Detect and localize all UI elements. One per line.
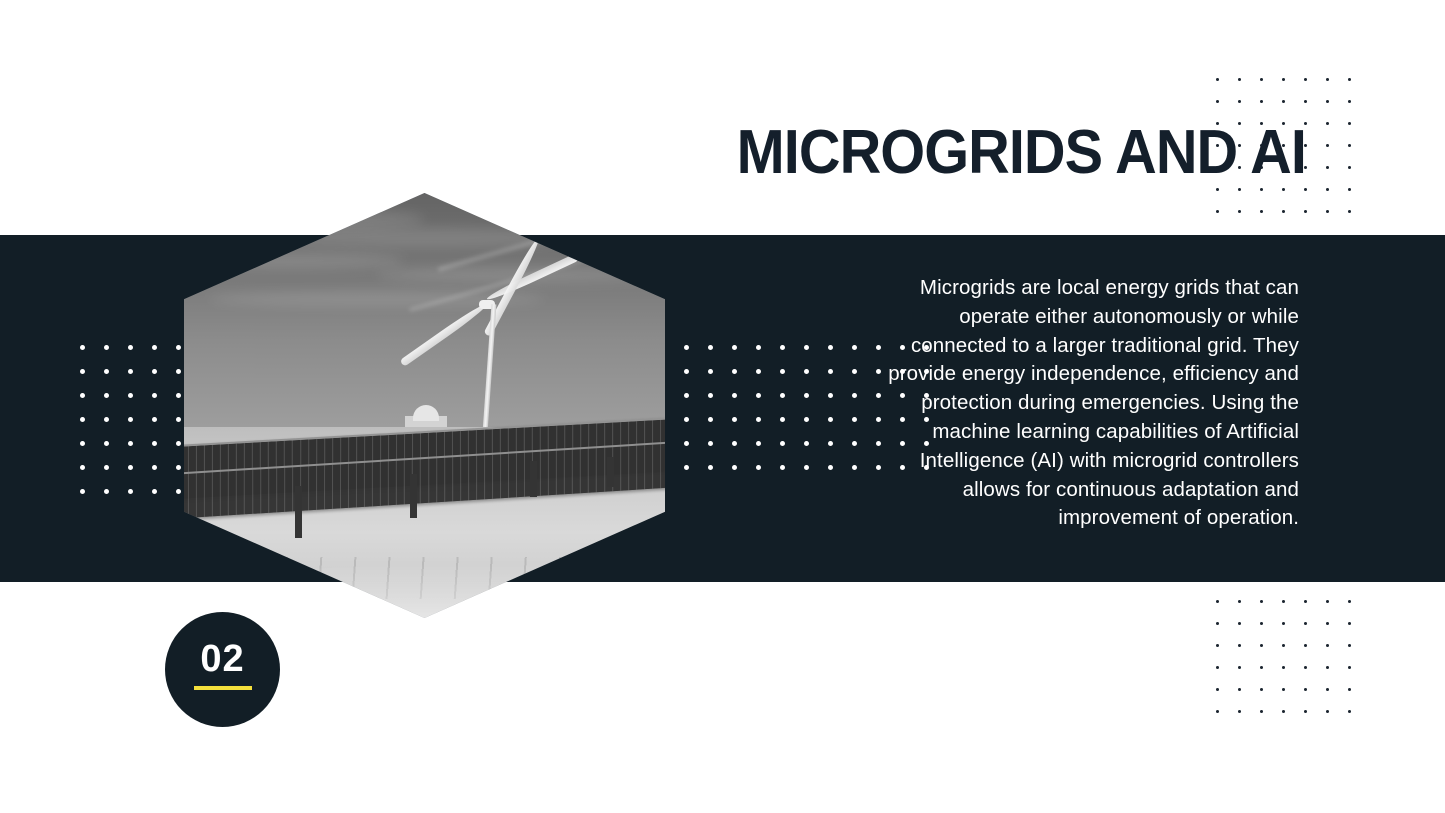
decorative-dot — [1238, 644, 1241, 647]
decorative-dot — [804, 441, 809, 446]
decorative-dot — [876, 465, 881, 470]
decorative-dot — [152, 465, 157, 470]
decorative-dot — [128, 393, 133, 398]
decorative-dot — [1216, 188, 1219, 191]
decorative-dot — [152, 417, 157, 422]
decorative-dot — [1348, 144, 1351, 147]
decorative-dot — [1326, 144, 1329, 147]
panel-support-post — [607, 457, 614, 487]
decorative-dot — [828, 369, 833, 374]
decorative-dot — [1260, 666, 1263, 669]
decorative-dot — [1304, 600, 1307, 603]
decorative-dot — [1238, 666, 1241, 669]
decorative-dot — [128, 465, 133, 470]
decorative-dot — [104, 417, 109, 422]
decorative-dot — [1260, 644, 1263, 647]
decorative-dot — [756, 441, 761, 446]
decorative-dot — [828, 465, 833, 470]
decorative-dot — [804, 417, 809, 422]
decorative-dot — [1260, 600, 1263, 603]
decorative-dot — [1216, 78, 1219, 81]
decorative-dot — [684, 369, 689, 374]
panel-support-post — [410, 474, 417, 518]
decorative-dot — [1260, 688, 1263, 691]
decorative-dot — [1326, 644, 1329, 647]
decorative-dot — [80, 417, 85, 422]
slide-title: MICROGRIDS AND AI — [556, 118, 1306, 188]
decorative-dot — [1282, 666, 1285, 669]
decorative-dot — [80, 393, 85, 398]
decorative-dot — [804, 345, 809, 350]
decorative-dot — [1304, 188, 1307, 191]
decorative-dot — [756, 465, 761, 470]
decorative-dot — [1348, 100, 1351, 103]
decorative-dot — [732, 441, 737, 446]
decorative-dot — [708, 465, 713, 470]
decorative-dot — [1304, 210, 1307, 213]
decorative-dot — [1326, 100, 1329, 103]
decorative-dot — [876, 417, 881, 422]
decorative-dot — [1216, 688, 1219, 691]
sky-layer — [184, 193, 665, 440]
decorative-dot — [1282, 688, 1285, 691]
decorative-dot — [1238, 100, 1241, 103]
decorative-dot — [1216, 100, 1219, 103]
decorative-dot — [1282, 188, 1285, 191]
decorative-dot — [176, 393, 181, 398]
decorative-dot — [1238, 688, 1241, 691]
decorative-dot — [852, 369, 857, 374]
decorative-dot — [1216, 666, 1219, 669]
decorative-dot — [176, 345, 181, 350]
decorative-dot — [80, 441, 85, 446]
decorative-dot — [804, 465, 809, 470]
decorative-dot — [1260, 100, 1263, 103]
decorative-dot — [732, 465, 737, 470]
decorative-dot — [1260, 188, 1263, 191]
decorative-dot — [1216, 644, 1219, 647]
decorative-dot — [1282, 644, 1285, 647]
decorative-dot — [1282, 78, 1285, 81]
decorative-dot — [80, 489, 85, 494]
decorative-dot — [732, 393, 737, 398]
decorative-dot — [780, 441, 785, 446]
decorative-dot — [1348, 78, 1351, 81]
panel-support-post — [530, 461, 537, 497]
decorative-dot — [80, 345, 85, 350]
decorative-dot — [1348, 210, 1351, 213]
decorative-dot — [104, 393, 109, 398]
decorative-dot — [1326, 666, 1329, 669]
decorative-dot — [828, 393, 833, 398]
decorative-dot — [876, 345, 881, 350]
decorative-dot — [852, 393, 857, 398]
decorative-dot — [1304, 622, 1307, 625]
decorative-dot — [1326, 600, 1329, 603]
decorative-dot — [104, 465, 109, 470]
decorative-dot — [780, 465, 785, 470]
decorative-dot — [104, 369, 109, 374]
decorative-dot — [176, 489, 181, 494]
decorative-dot — [152, 369, 157, 374]
decorative-dot — [852, 441, 857, 446]
decorative-dot — [104, 345, 109, 350]
decorative-dot — [1238, 622, 1241, 625]
panel-support-post — [295, 486, 302, 538]
decorative-dot — [756, 369, 761, 374]
decorative-dot — [684, 417, 689, 422]
decorative-dot — [1260, 710, 1263, 713]
decorative-dot — [1216, 622, 1219, 625]
decorative-dot — [708, 417, 713, 422]
decorative-dot — [828, 417, 833, 422]
decorative-dot — [852, 465, 857, 470]
decorative-dot — [1260, 622, 1263, 625]
decorative-dot — [1326, 166, 1329, 169]
decorative-dot — [1282, 600, 1285, 603]
decorative-dot — [1304, 688, 1307, 691]
decorative-dot — [1326, 622, 1329, 625]
decorative-dot — [1282, 710, 1285, 713]
decorative-dot — [1348, 666, 1351, 669]
decorative-dot — [828, 441, 833, 446]
decorative-dot — [152, 345, 157, 350]
decorative-dot — [684, 465, 689, 470]
decorative-dot — [128, 417, 133, 422]
decorative-dot — [1260, 210, 1263, 213]
decorative-dot — [1326, 188, 1329, 191]
slide-body-paragraph: Microgrids are local energy grids that c… — [885, 274, 1299, 533]
decorative-dot — [876, 393, 881, 398]
decorative-dot — [152, 489, 157, 494]
decorative-dot — [756, 417, 761, 422]
decorative-dot — [1304, 78, 1307, 81]
slide-number-underline — [194, 686, 252, 690]
decorative-dot — [756, 393, 761, 398]
decorative-dot — [780, 393, 785, 398]
decorative-dot — [1238, 78, 1241, 81]
slide-number-label: 02 — [165, 639, 280, 679]
decorative-dot — [1326, 688, 1329, 691]
decorative-dot — [128, 345, 133, 350]
decorative-dot — [732, 417, 737, 422]
decorative-dot — [1348, 166, 1351, 169]
decorative-dot — [780, 345, 785, 350]
decorative-dot — [80, 369, 85, 374]
decorative-dot — [684, 393, 689, 398]
decorative-dot — [708, 345, 713, 350]
decorative-dot — [1348, 710, 1351, 713]
decorative-dot — [804, 393, 809, 398]
slide-number-badge: 02 — [165, 612, 280, 727]
decorative-dot — [756, 345, 761, 350]
decorative-dot — [1216, 710, 1219, 713]
decorative-dot — [804, 369, 809, 374]
decorative-dot — [708, 393, 713, 398]
decorative-dot — [876, 441, 881, 446]
decorative-dot — [1216, 210, 1219, 213]
decorative-dot — [708, 441, 713, 446]
decorative-dot — [104, 489, 109, 494]
decorative-dot — [1282, 622, 1285, 625]
decorative-dot — [1216, 600, 1219, 603]
decorative-dot — [1326, 710, 1329, 713]
decorative-dot — [1348, 644, 1351, 647]
decorative-dot — [1238, 188, 1241, 191]
decorative-dot — [176, 417, 181, 422]
decorative-dot — [1348, 600, 1351, 603]
decorative-dot — [176, 441, 181, 446]
decorative-dot — [1326, 122, 1329, 125]
decorative-dot — [1348, 188, 1351, 191]
decorative-dot — [152, 441, 157, 446]
decorative-dot — [1282, 100, 1285, 103]
decorative-dot — [1238, 600, 1241, 603]
decorative-dot — [1304, 710, 1307, 713]
decorative-dot — [128, 441, 133, 446]
decorative-dot — [1326, 78, 1329, 81]
decorative-dot — [176, 369, 181, 374]
decorative-dot — [1260, 78, 1263, 81]
decorative-dot — [1348, 688, 1351, 691]
decorative-dot — [1326, 210, 1329, 213]
decorative-dot — [1304, 666, 1307, 669]
slide-canvas: MICROGRIDS AND AI Microgrids are local e… — [0, 0, 1445, 813]
decorative-dot — [732, 369, 737, 374]
decorative-dot — [1238, 710, 1241, 713]
decorative-dot — [780, 369, 785, 374]
decorative-dot — [104, 441, 109, 446]
decorative-dot — [852, 345, 857, 350]
decorative-dot — [708, 369, 713, 374]
decorative-dot — [1282, 210, 1285, 213]
decorative-dot — [732, 345, 737, 350]
decorative-dot — [128, 489, 133, 494]
decorative-dot — [1348, 622, 1351, 625]
decorative-dot — [176, 465, 181, 470]
decorative-dot — [684, 441, 689, 446]
decorative-dot — [780, 417, 785, 422]
decorative-dot — [128, 369, 133, 374]
decorative-dot — [876, 369, 881, 374]
decorative-dot — [1304, 644, 1307, 647]
decorative-dot — [1348, 122, 1351, 125]
decorative-dot — [852, 417, 857, 422]
decorative-dot — [1238, 210, 1241, 213]
decorative-dot — [152, 393, 157, 398]
decorative-dot — [828, 345, 833, 350]
decorative-dot — [1304, 100, 1307, 103]
dot-grid-bottom-right — [1216, 600, 1351, 713]
dot-grid-band-left — [80, 345, 181, 494]
decorative-dot — [684, 345, 689, 350]
decorative-dot — [80, 465, 85, 470]
